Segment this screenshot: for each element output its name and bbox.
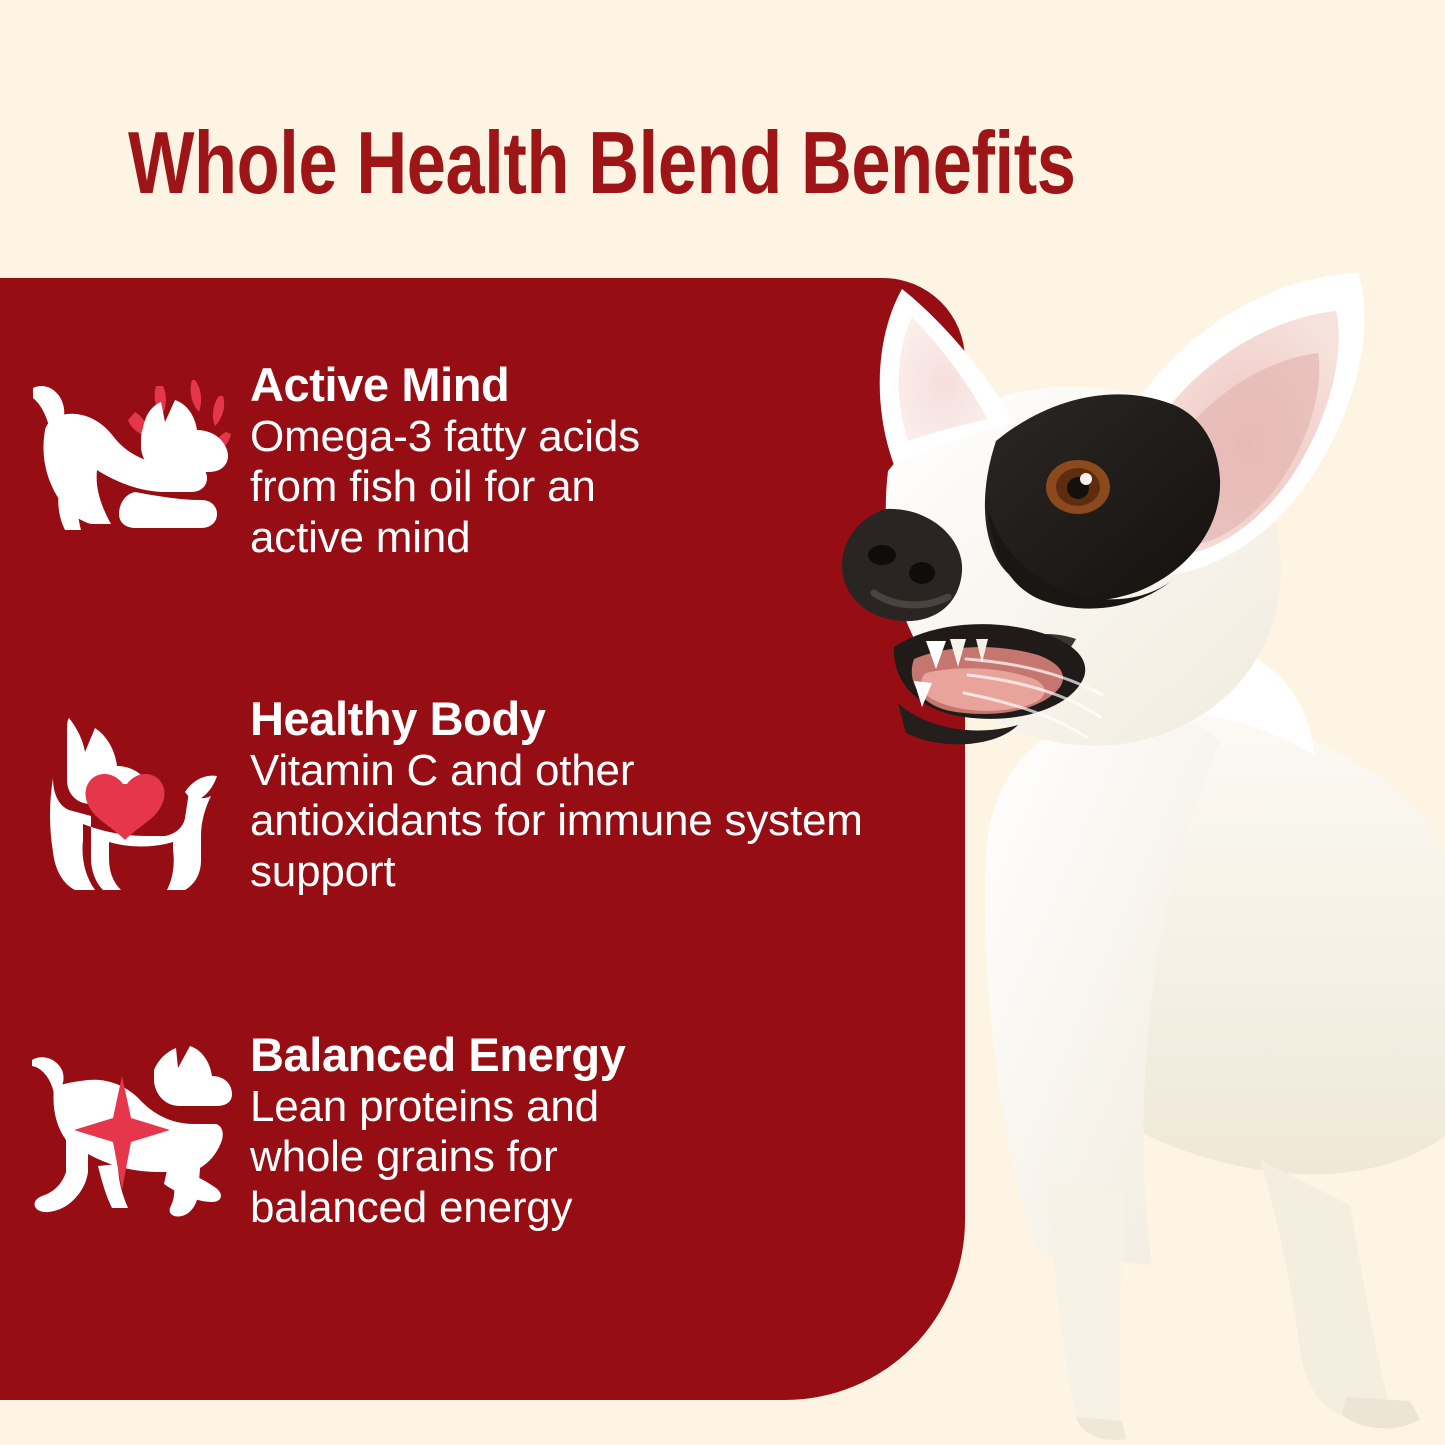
benefit-copy: Active Mind Omega-3 fatty acids from fis… xyxy=(250,356,720,564)
benefit-description: Lean proteins and whole grains for balan… xyxy=(250,1082,720,1234)
benefit-copy: Balanced Energy Lean proteins and whole … xyxy=(250,1026,740,1234)
benefits-list: Active Mind Omega-3 fatty acids from fis… xyxy=(0,278,965,1400)
product-benefits-graphic: Whole Health Blend Benefits xyxy=(0,0,1445,1445)
benefit-item-active-mind: Active Mind Omega-3 fatty acids from fis… xyxy=(0,356,965,564)
benefit-copy: Healthy Body Vitamin C and other antioxi… xyxy=(250,690,890,898)
dog-play-bow-alert-icon xyxy=(0,356,250,556)
benefit-title: Active Mind xyxy=(250,360,700,410)
benefit-title: Healthy Body xyxy=(250,694,870,744)
benefit-description: Omega-3 fatty acids from fish oil for an… xyxy=(250,412,700,564)
benefit-item-balanced-energy: Balanced Energy Lean proteins and whole … xyxy=(0,1026,965,1234)
dog-standing-heart-icon xyxy=(0,690,250,890)
page-title: Whole Health Blend Benefits xyxy=(128,118,968,208)
benefit-title: Balanced Energy xyxy=(250,1030,720,1080)
benefit-item-healthy-body: Healthy Body Vitamin C and other antioxi… xyxy=(0,690,965,898)
benefit-description: Vitamin C and other antioxidants for imm… xyxy=(250,746,870,898)
dog-running-sparkle-icon xyxy=(0,1026,250,1226)
